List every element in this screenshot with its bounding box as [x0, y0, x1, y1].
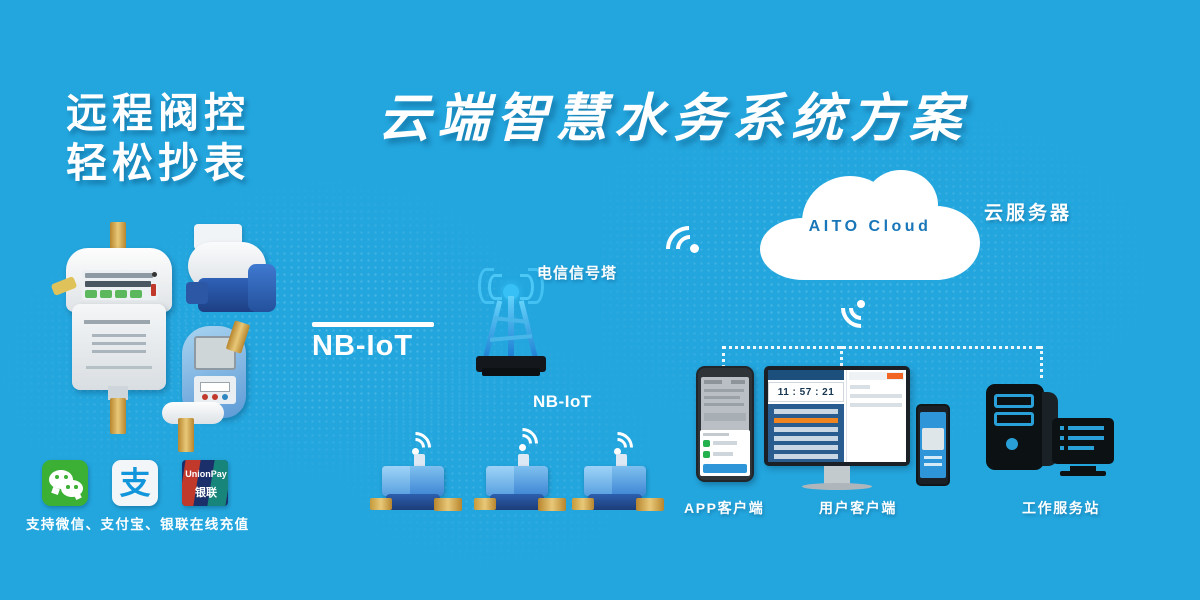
- wifi-signal-icon: [505, 418, 541, 454]
- dashboard-clock: 11 : 57 : 21: [768, 382, 844, 402]
- app-client-phone: [696, 366, 754, 482]
- product-meter-cluster: [48, 218, 308, 458]
- user-client-phone: [916, 404, 950, 486]
- work-station-label: 工作服务站: [1022, 498, 1100, 518]
- connector-line: [840, 346, 843, 366]
- page-title: 云端智慧水务系统方案: [378, 84, 968, 154]
- wifi-signal-icon: [650, 222, 704, 276]
- slogan-line-2: 轻松抄表: [66, 138, 366, 188]
- dashboard-nav-panel: [768, 404, 844, 462]
- wechat-pay-icon[interactable]: [42, 460, 88, 506]
- wifi-signal-icon: [398, 422, 434, 458]
- nbiot-divider: [312, 322, 434, 327]
- work-station-graphic: [986, 378, 1116, 482]
- cloud-name: AITO Cloud: [760, 218, 980, 236]
- phone-confirm-button[interactable]: [703, 464, 747, 473]
- connector-line: [1040, 346, 1043, 378]
- dashboard-title-bar: [768, 370, 844, 380]
- dashboard-content-panel: [846, 370, 906, 462]
- tower-label: 电信信号塔: [537, 262, 617, 283]
- wifi-signal-icon: [838, 296, 884, 342]
- unionpay-icon[interactable]: UnionPay 银联: [182, 460, 228, 506]
- slogan-line-1: 远程阀控: [66, 88, 366, 138]
- cloud-server-label: 云服务器: [984, 198, 1072, 225]
- wifi-signal-icon: [600, 422, 636, 458]
- slogan-block: 远程阀控 轻松抄表: [66, 88, 366, 188]
- nbiot-water-meter: [572, 462, 664, 532]
- nbiot-secondary-label: NB-IoT: [533, 392, 592, 412]
- connector-line: [722, 346, 725, 368]
- dashboard-action-button[interactable]: [887, 373, 903, 379]
- unionpay-wordmark: UnionPay: [184, 469, 228, 479]
- cloud-server-graphic: AITO Cloud: [760, 170, 980, 280]
- meter-code-line: [85, 273, 153, 278]
- alipay-icon[interactable]: 支: [112, 460, 158, 506]
- phone-payment-card: [700, 430, 750, 476]
- product-meter-blue: [156, 326, 268, 456]
- user-client-label: 用户客户端: [819, 498, 897, 518]
- banner-canvas: 远程阀控 轻松抄表 云端智慧水务系统方案: [0, 0, 1200, 600]
- product-meter-valve: [184, 224, 288, 336]
- unionpay-cn-wordmark: 银联: [184, 484, 228, 500]
- connector-line: [722, 346, 1040, 349]
- telecom-signal-tower: [468, 270, 554, 380]
- app-client-label: APP客户端: [684, 498, 764, 518]
- payment-caption: 支持微信、支付宝、银联在线充值: [26, 513, 250, 533]
- nbiot-primary-label: NB-IoT: [312, 330, 413, 363]
- user-client-monitor: 11 : 57 : 21: [764, 366, 910, 466]
- nbiot-water-meter: [474, 462, 566, 532]
- nbiot-water-meter: [370, 462, 462, 532]
